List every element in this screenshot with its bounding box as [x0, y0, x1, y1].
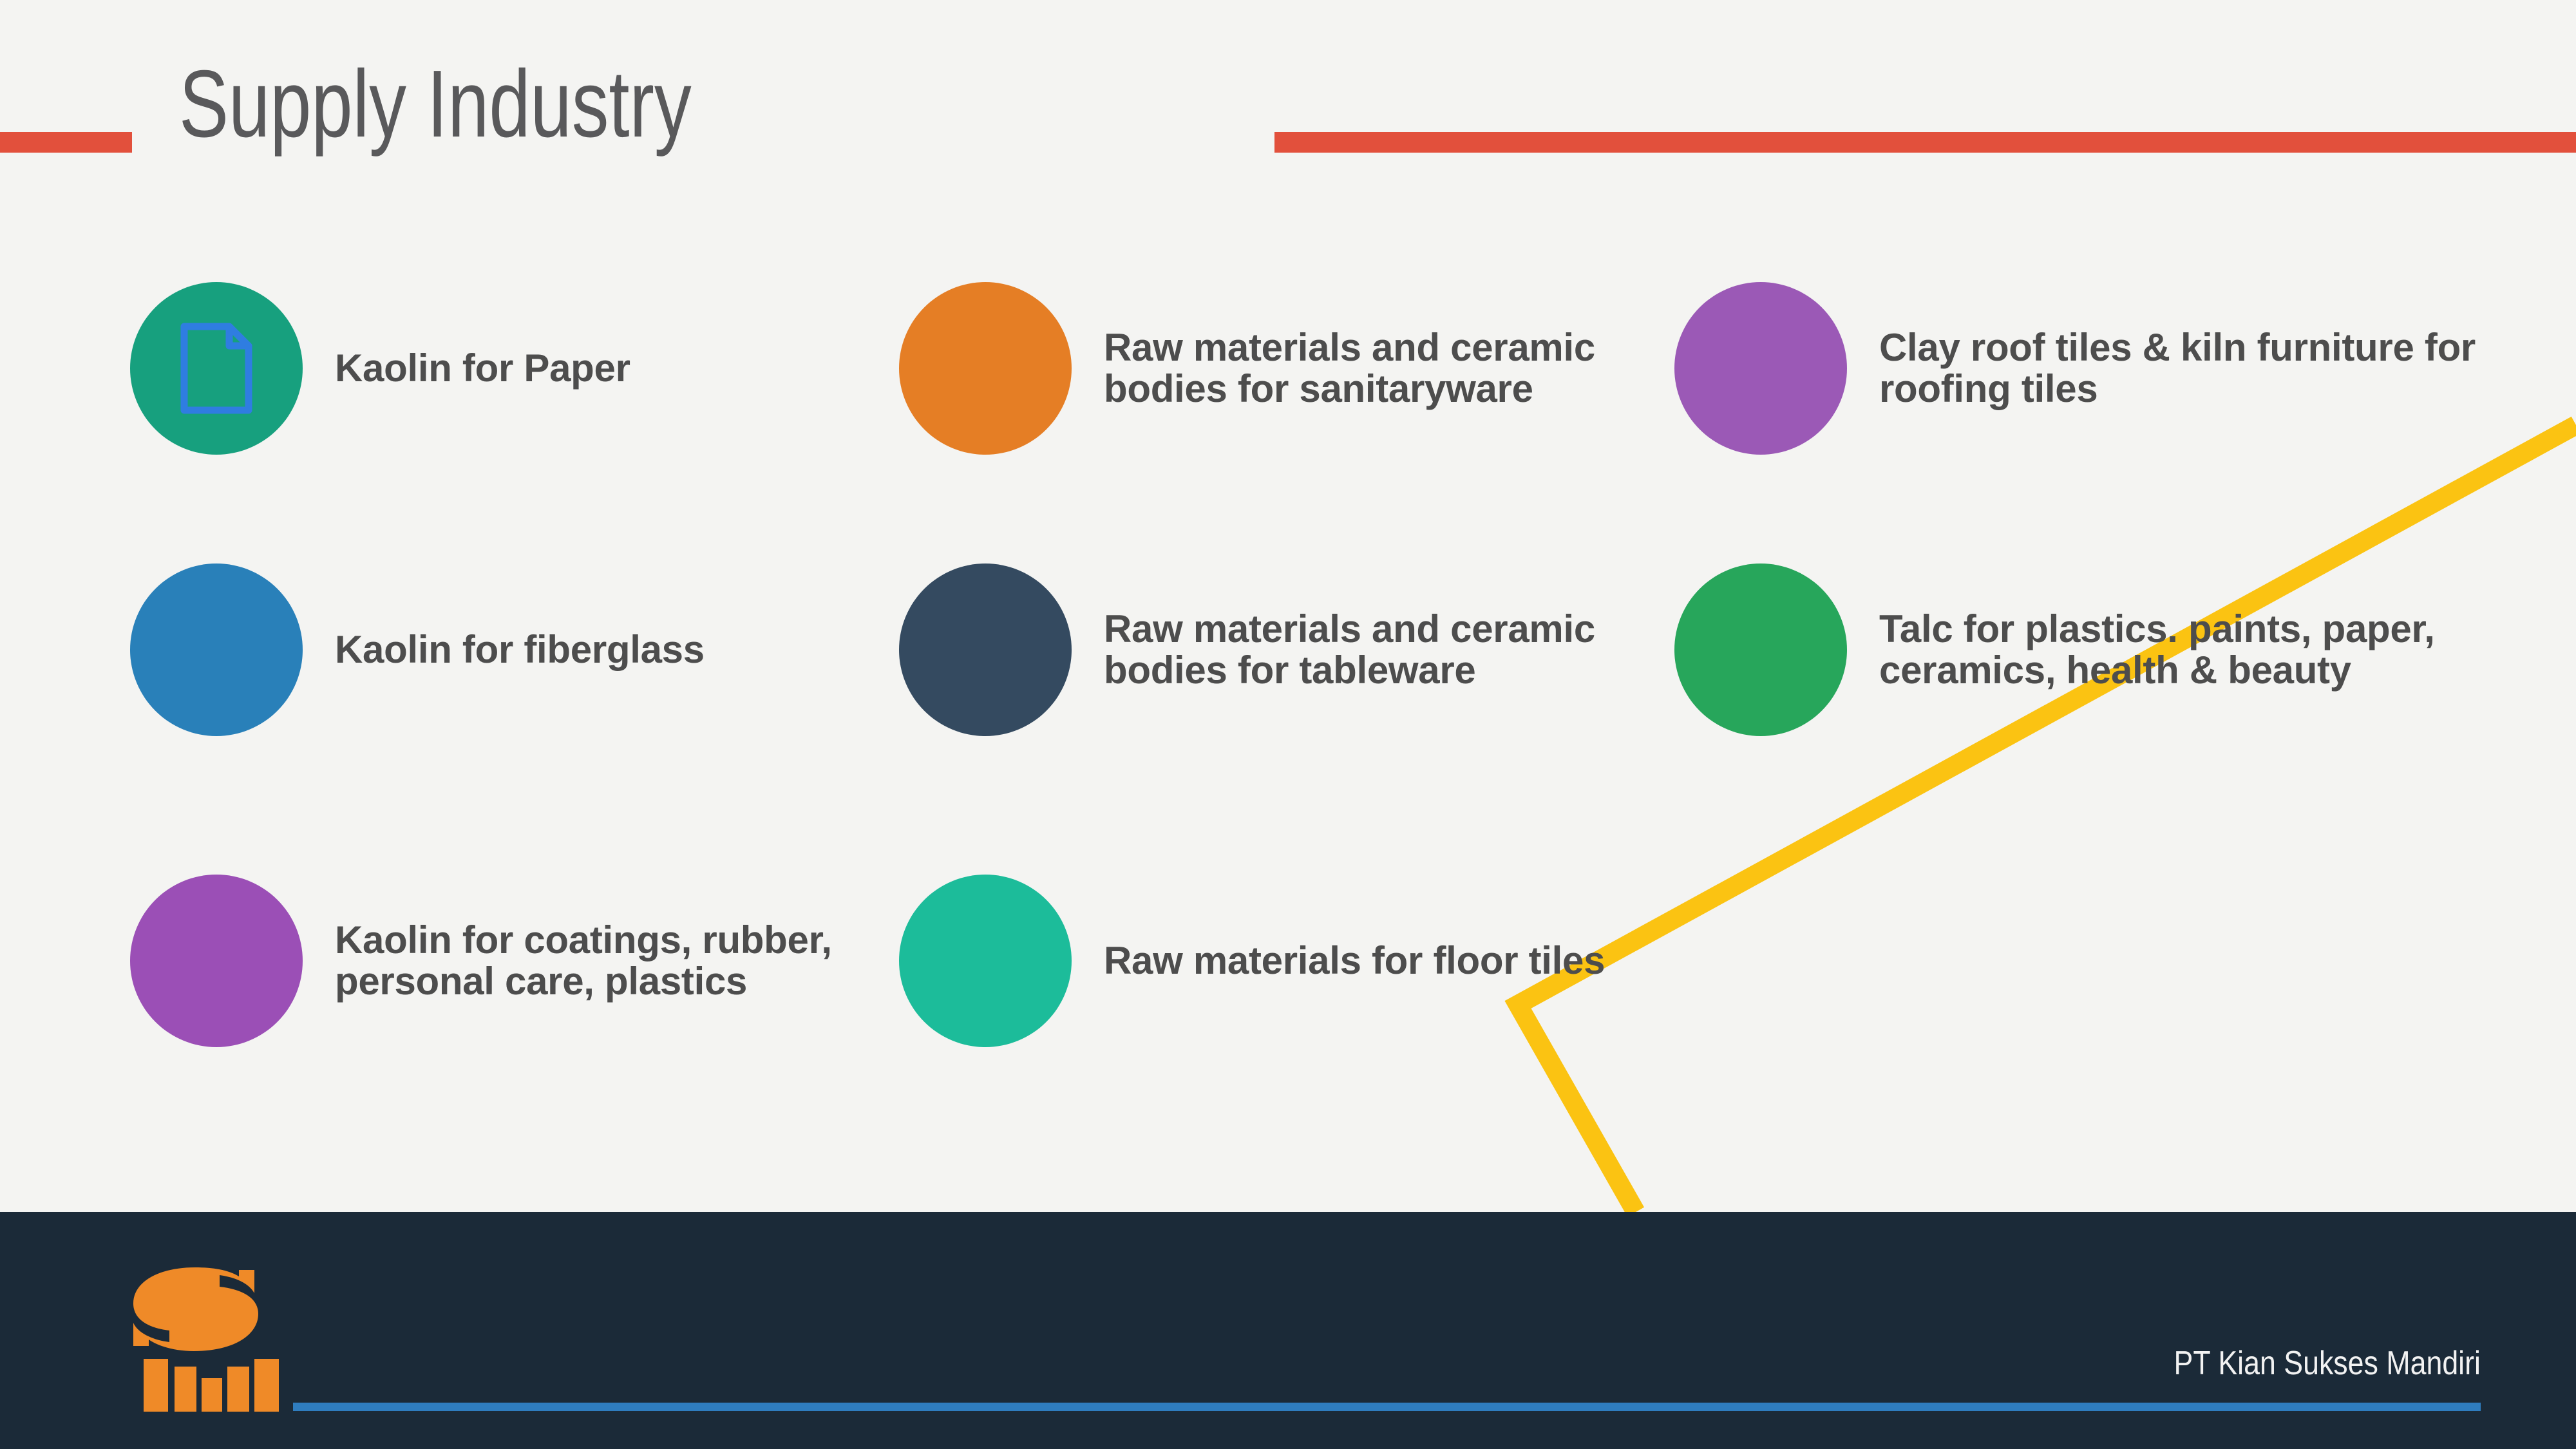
bullet-circle [130, 282, 303, 455]
bullet-circle [1674, 563, 1847, 736]
list-item-raw-materials-sanitaryware[interactable]: Raw materials and ceramic bodies for san… [899, 282, 1627, 455]
bullet-circle [899, 875, 1072, 1047]
list-item-label: Kaolin for fiberglass [335, 629, 705, 670]
bullet-circle [899, 563, 1072, 736]
footer-company-name: PT Kian Sukses Mandiri [2174, 1344, 2481, 1383]
footer-divider-line [293, 1403, 2481, 1411]
list-item-clay-roof-tiles[interactable]: Clay roof tiles & kiln furniture for roo… [1674, 282, 2531, 455]
company-logo-icon [119, 1264, 288, 1415]
footer-bar [0, 1212, 2576, 1449]
list-item-label: Clay roof tiles & kiln furniture for roo… [1879, 327, 2531, 410]
list-item-label: Raw materials and ceramic bodies for san… [1104, 327, 1627, 410]
document-icon [179, 321, 254, 415]
list-item-raw-materials-tableware[interactable]: Raw materials and ceramic bodies for tab… [899, 563, 1627, 736]
list-item-label: Kaolin for coatings, rubber, personal ca… [335, 920, 851, 1002]
bullet-circle [130, 875, 303, 1047]
supply-industry-grid: Kaolin for Paper Raw materials and ceram… [0, 0, 2576, 1212]
list-item-raw-materials-floor-tiles[interactable]: Raw materials for floor tiles [899, 875, 1627, 1047]
list-item-label: Raw materials for floor tiles [1104, 940, 1605, 981]
list-item-label: Kaolin for Paper [335, 348, 630, 389]
list-item-label: Talc for plastics. paints, paper, cerami… [1879, 609, 2531, 691]
bullet-circle [899, 282, 1072, 455]
slide: Supply Industry Kaolin for Paper Raw mat… [0, 0, 2576, 1449]
list-item-kaolin-for-paper[interactable]: Kaolin for Paper [130, 282, 851, 455]
bullet-circle [130, 563, 303, 736]
list-item-label: Raw materials and ceramic bodies for tab… [1104, 609, 1627, 691]
list-item-kaolin-for-coatings[interactable]: Kaolin for coatings, rubber, personal ca… [130, 875, 851, 1047]
list-item-talc-for-plastics[interactable]: Talc for plastics. paints, paper, cerami… [1674, 563, 2531, 736]
list-item-kaolin-for-fiberglass[interactable]: Kaolin for fiberglass [130, 563, 851, 736]
bullet-circle [1674, 282, 1847, 455]
